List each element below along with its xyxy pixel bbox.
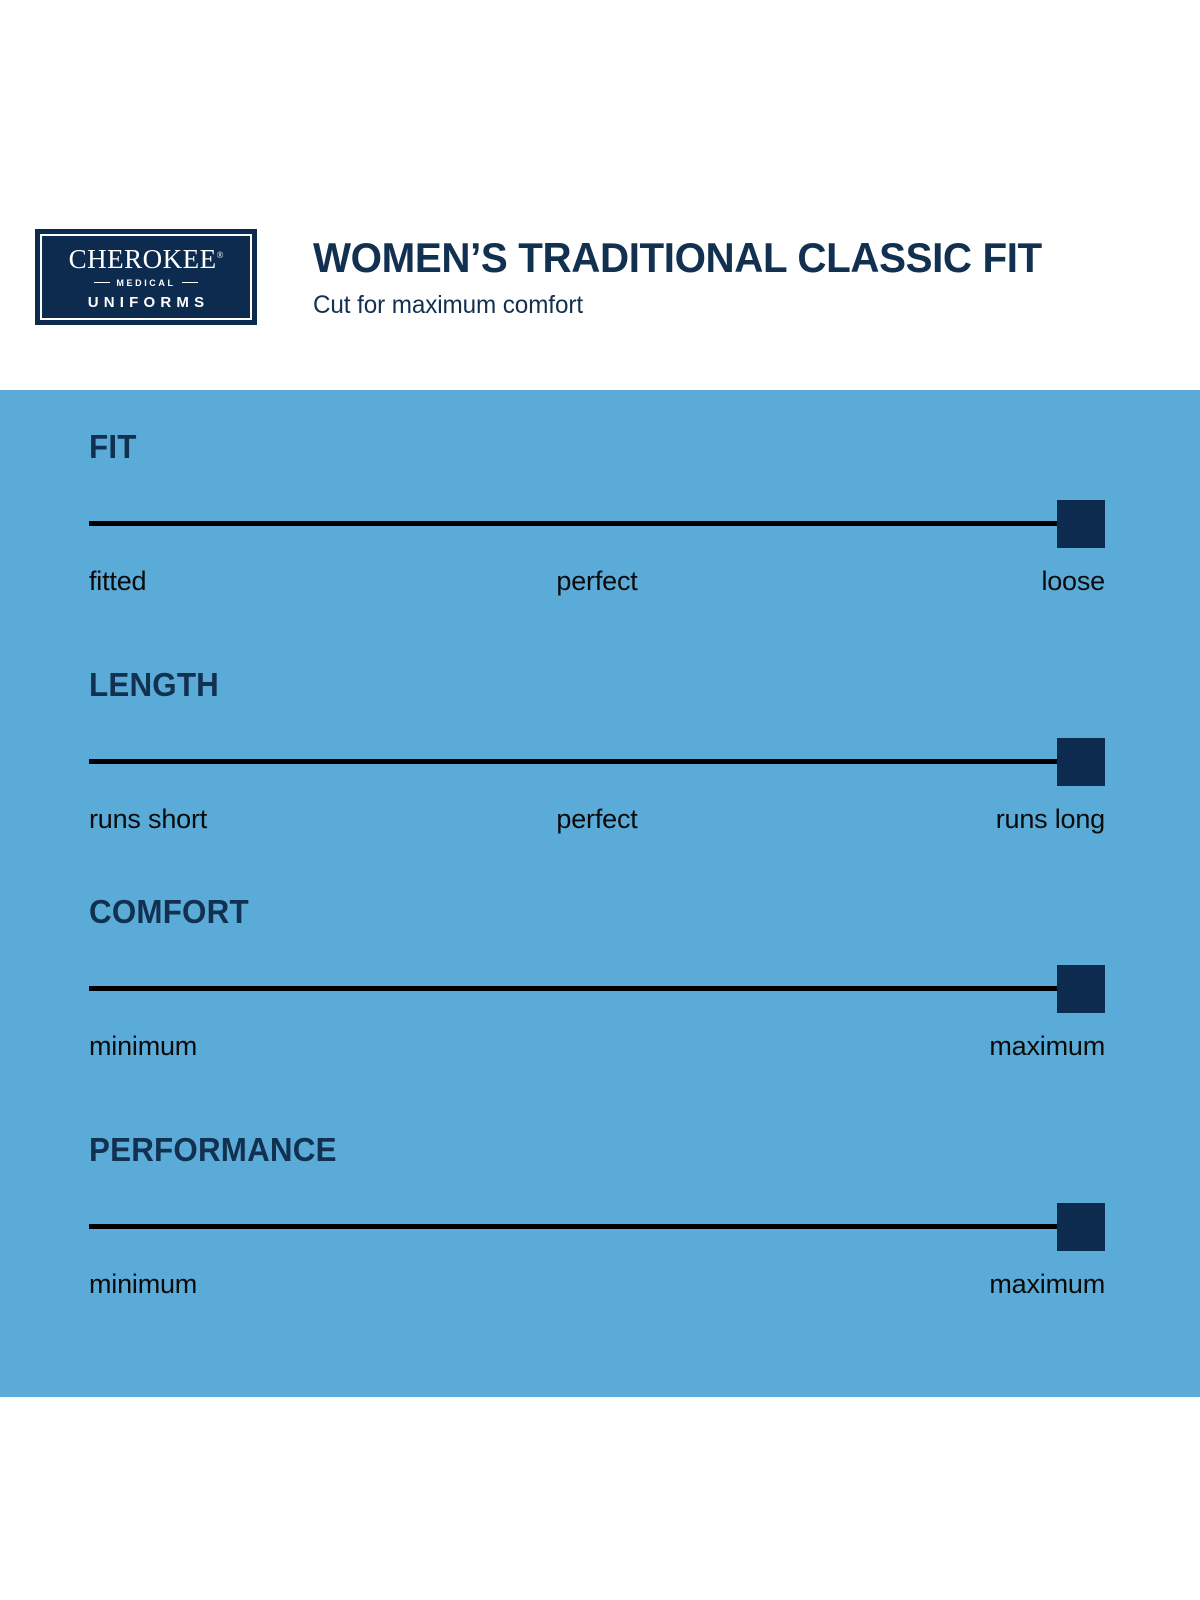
slider-performance[interactable] [89,1203,1105,1251]
scale-mid-label-length: perfect [556,803,637,837]
slider-fit[interactable] [89,500,1105,548]
scale-heading-length: LENGTH [89,668,1054,701]
slider-track-performance[interactable] [89,1224,1105,1229]
slider-handle-fit[interactable] [1057,500,1105,548]
scale-min-label-length: runs short [89,803,207,837]
page-footer-whitespace [0,1397,1200,1600]
slider-track-comfort[interactable] [89,986,1105,991]
dash-right-icon [182,282,198,284]
slider-track-fit[interactable] [89,521,1105,526]
page-subtitle: Cut for maximum comfort [313,291,1128,320]
scale-heading-performance: PERFORMANCE [89,1133,1054,1166]
page-title: WOMEN’S TRADITIONAL CLASSIC FIT [313,236,1119,280]
scale-min-label-performance: minimum [89,1268,197,1302]
slider-handle-length[interactable] [1057,738,1105,786]
scale-mid-label-fit: perfect [556,565,637,599]
cherokee-logo: CHEROKEE® MEDICAL UNIFORMS [35,229,257,325]
slider-handle-performance[interactable] [1057,1203,1105,1251]
logo-uniforms-label: UNIFORMS [88,294,210,311]
scale-min-label-fit: fitted [89,565,146,599]
scale-heading-comfort: COMFORT [89,895,1054,928]
scale-labels-fit: fitted perfect loose [89,565,1105,599]
slider-handle-comfort[interactable] [1057,965,1105,1013]
scale-labels-performance: minimum maximum [89,1268,1105,1302]
comfort-scale-row: COMFORT minimum maximum [89,895,1105,1064]
registered-trademark-icon: ® [217,250,224,260]
scale-min-label-comfort: minimum [89,1030,197,1064]
logo-brand-label: CHEROKEE [69,244,217,274]
header-title-block: WOMEN’S TRADITIONAL CLASSIC FIT Cut for … [313,236,1153,320]
slider-length[interactable] [89,738,1105,786]
performance-scale-row: PERFORMANCE minimum maximum [89,1133,1105,1302]
page-header: CHEROKEE® MEDICAL UNIFORMS WOMEN’S TRADI… [0,0,1200,390]
scale-heading-fit: FIT [89,430,1054,463]
dash-left-icon [94,282,110,284]
length-scale-row: LENGTH runs short perfect runs long [89,668,1105,837]
logo-medical-label: MEDICAL [116,278,175,288]
logo-inner-frame: CHEROKEE® MEDICAL UNIFORMS [40,234,252,320]
scale-max-label-comfort: maximum [989,1030,1105,1064]
scale-max-label-fit: loose [1041,565,1105,599]
slider-track-length[interactable] [89,759,1105,764]
fit-scales-panel: FIT fitted perfect loose LENGTH [0,390,1200,1397]
logo-brand-text: CHEROKEE® [69,246,224,273]
scale-max-label-length: runs long [996,803,1105,837]
scale-labels-comfort: minimum maximum [89,1030,1105,1064]
scale-labels-length: runs short perfect runs long [89,803,1105,837]
fit-guide-page: CHEROKEE® MEDICAL UNIFORMS WOMEN’S TRADI… [0,0,1200,1600]
logo-medical-line: MEDICAL [94,278,197,288]
slider-comfort[interactable] [89,965,1105,1013]
scale-max-label-performance: maximum [989,1268,1105,1302]
fit-scale-row: FIT fitted perfect loose [89,430,1105,599]
